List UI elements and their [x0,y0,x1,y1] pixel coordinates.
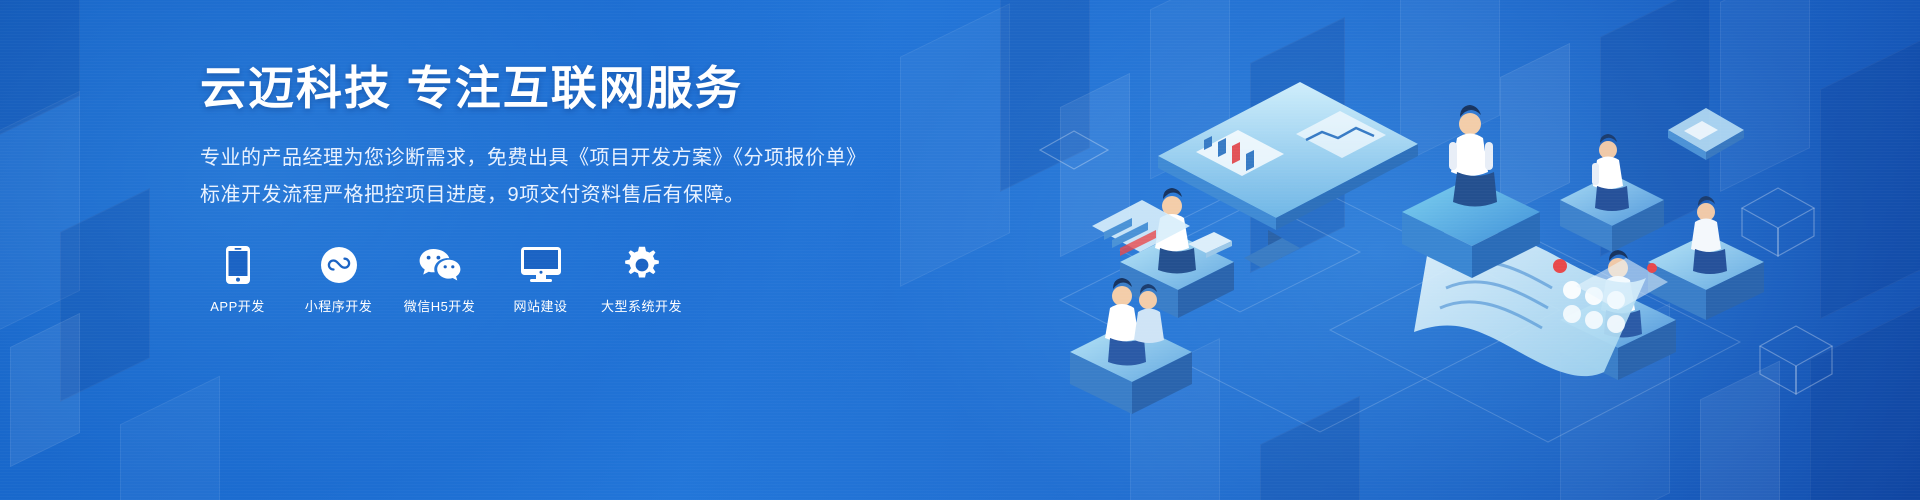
banner-subtitle-line-1: 专业的产品经理为您诊断需求，免费出具《项目开发方案》《分项报价单》 [200,140,960,177]
banner-subtitle-line-2: 标准开发流程严格把控项目进度，9项交付资料售后有保障。 [200,177,960,214]
banner-content: 云迈科技 专注互联网服务 专业的产品经理为您诊断需求，免费出具《项目开发方案》《… [200,60,960,315]
service-item-app[interactable]: APP开发 [200,246,275,315]
mini-program-icon [321,246,357,284]
service-item-large-system[interactable]: 大型系统开发 [604,246,679,315]
banner-subtitle: 专业的产品经理为您诊断需求，免费出具《项目开发方案》《分项报价单》 标准开发流程… [200,140,960,214]
service-label-wechat: 微信H5开发 [404,296,476,315]
service-label-website: 网站建设 [513,296,567,315]
service-item-wechat[interactable]: 微信H5开发 [402,246,477,315]
banner-title: 云迈科技 专注互联网服务 [200,60,960,118]
service-item-website[interactable]: 网站建设 [503,246,578,315]
mobile-phone-icon [226,246,250,284]
wechat-icon [419,246,461,284]
monitor-icon [521,246,561,284]
service-label-mini-program: 小程序开发 [305,296,373,315]
gear-icon [623,246,661,284]
isometric-tech-team-illustration [1000,0,1920,500]
service-item-mini-program[interactable]: 小程序开发 [301,246,376,315]
service-list: APP开发 小程序开发 [200,246,960,315]
service-label-large-system: 大型系统开发 [601,296,682,315]
service-label-app: APP开发 [210,296,265,315]
hero-banner: 云迈科技 专注互联网服务 专业的产品经理为您诊断需求，免费出具《项目开发方案》《… [0,0,1920,500]
